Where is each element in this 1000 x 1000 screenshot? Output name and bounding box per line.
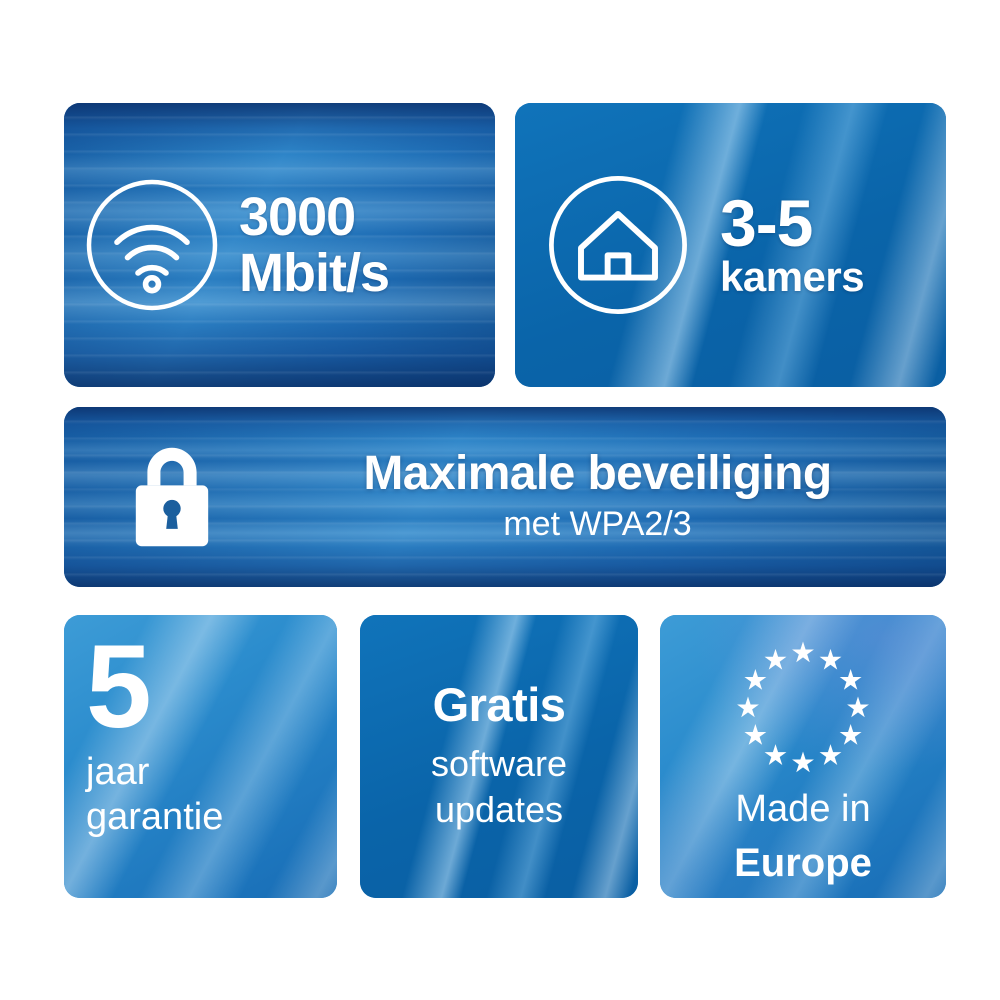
card-free-updates: Gratis software updates: [360, 615, 638, 898]
origin-line-2: Europe: [734, 839, 872, 887]
speed-unit: Mbit/s: [239, 245, 389, 301]
origin-line-1: Made in: [735, 787, 870, 833]
updates-headline: Gratis: [433, 679, 566, 731]
feature-badge-grid: 3000 Mbit/s 3-5 kamers: [0, 0, 1000, 1000]
card-made-in-europe: Made in Europe: [660, 615, 946, 898]
rooms-label: kamers: [720, 255, 864, 299]
wifi-speed-text: 3000 Mbit/s: [239, 189, 389, 301]
rooms-text: 3-5 kamers: [720, 191, 864, 300]
house-icon: [515, 171, 720, 319]
rooms-range: 3-5: [720, 191, 864, 256]
card-wifi-speed: 3000 Mbit/s: [64, 103, 495, 387]
speed-value: 3000: [239, 189, 389, 245]
updates-line-3: updates: [435, 787, 563, 834]
card-security: Maximale beveiliging met WPA2/3: [64, 407, 946, 587]
security-text: Maximale beveiliging met WPA2/3: [279, 448, 946, 545]
lock-icon: [64, 442, 279, 552]
warranty-number: 5: [86, 633, 337, 742]
warranty-line-2: garantie: [86, 795, 337, 841]
eu-stars-icon: [728, 633, 878, 783]
updates-line-2: software: [431, 741, 567, 788]
security-headline: Maximale beveiliging: [279, 448, 916, 501]
security-subline: met WPA2/3: [279, 503, 916, 546]
card-warranty: 5 jaar garantie: [64, 615, 337, 898]
card-room-coverage: 3-5 kamers: [515, 103, 946, 387]
wifi-icon: [64, 175, 239, 315]
warranty-line-1: jaar: [86, 750, 337, 796]
